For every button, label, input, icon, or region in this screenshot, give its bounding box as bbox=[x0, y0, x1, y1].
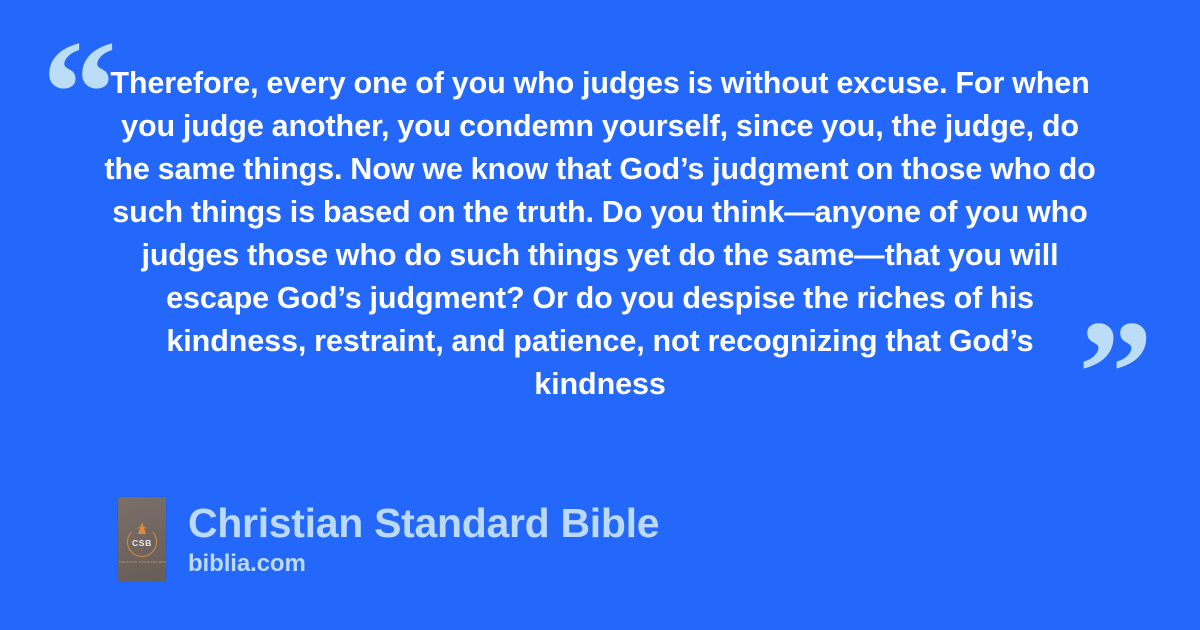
csb-book-cover-icon: CSB CHRISTIAN STANDARD BIBLE bbox=[118, 497, 166, 581]
footer-text-block: Christian Standard Bible biblia.com bbox=[188, 497, 659, 579]
site-url[interactable]: biblia.com bbox=[188, 549, 659, 579]
csb-emblem-label: CSB bbox=[127, 538, 157, 548]
csb-emblem-icon: CSB bbox=[127, 527, 157, 557]
footer: CSB CHRISTIAN STANDARD BIBLE Christian S… bbox=[118, 497, 659, 581]
quote-card: “ ” Therefore, every one of you who judg… bbox=[0, 0, 1200, 630]
bible-version-title: Christian Standard Bible bbox=[188, 500, 659, 546]
book-cover-spine-text: CHRISTIAN STANDARD BIBLE bbox=[118, 560, 166, 564]
quote-text: Therefore, every one of you who judges i… bbox=[100, 62, 1100, 406]
flame-icon bbox=[138, 522, 146, 534]
